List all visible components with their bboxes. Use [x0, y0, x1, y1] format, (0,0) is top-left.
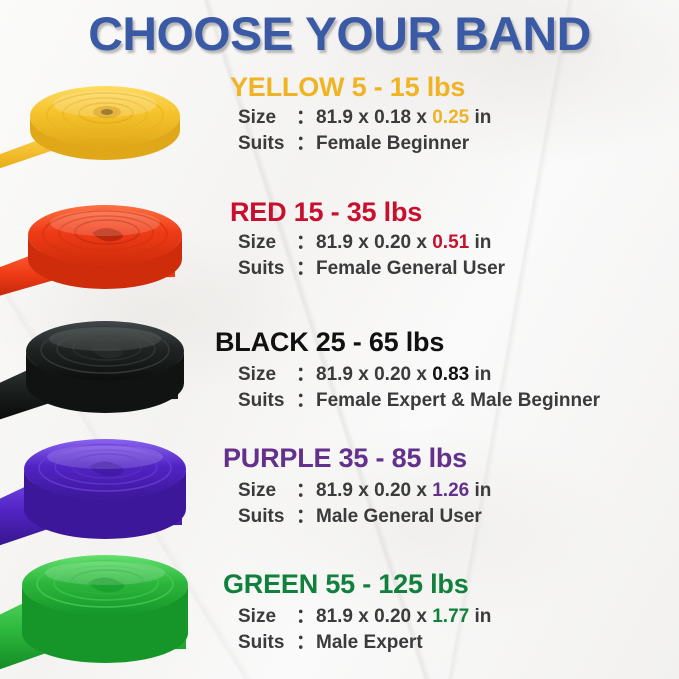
size-colon: ：	[296, 479, 316, 502]
size-prefix: 81.9 x 0.20 x	[316, 364, 432, 385]
black-coil-graphic	[0, 313, 210, 437]
size-colon: ：	[296, 605, 316, 628]
size-suffix: in	[469, 107, 491, 128]
band-row-black: BLACK 25 - 65 lbs Size：81.9 x 0.20 x 0.8…	[0, 313, 679, 437]
band-heading-yellow: YELLOW 5 - 15 lbs	[230, 72, 465, 102]
size-colon: ：	[296, 106, 316, 129]
size-label: Size	[238, 106, 296, 129]
band-size-green: Size：81.9 x 0.20 x 1.77 in	[238, 605, 491, 628]
band-text-red: RED 15 - 35 lbs Size：81.9 x 0.20 x 0.51 …	[208, 193, 679, 315]
suits-value: Female Beginner	[316, 133, 469, 154]
suits-colon: ：	[296, 505, 316, 528]
band-suits-purple: Suits：Male General User	[238, 505, 482, 528]
band-row-yellow: YELLOW 5 - 15 lbs Size：81.9 x 0.18 x 0.2…	[0, 70, 679, 195]
band-image-red	[0, 193, 210, 315]
size-label: Size	[238, 231, 296, 254]
size-label: Size	[238, 605, 296, 628]
band-row-purple: PURPLE 35 - 85 lbs Size：81.9 x 0.20 x 1.…	[0, 435, 679, 557]
band-suits-yellow: Suits：Female Beginner	[238, 132, 469, 155]
band-heading-green: GREEN 55 - 125 lbs	[223, 569, 469, 599]
suits-value: Female Expert & Male Beginner	[316, 390, 600, 411]
suits-value: Male General User	[316, 506, 482, 527]
size-thickness: 0.51	[432, 232, 469, 253]
green-coil-graphic	[0, 555, 210, 679]
band-text-black: BLACK 25 - 65 lbs Size：81.9 x 0.20 x 0.8…	[208, 313, 679, 437]
band-heading-purple: PURPLE 35 - 85 lbs	[223, 443, 467, 473]
size-thickness: 0.25	[432, 107, 469, 128]
size-prefix: 81.9 x 0.20 x	[316, 606, 432, 627]
size-prefix: 81.9 x 0.20 x	[316, 232, 432, 253]
size-label: Size	[238, 363, 296, 386]
size-colon: ：	[296, 363, 316, 386]
size-suffix: in	[469, 232, 491, 253]
band-heading-black: BLACK 25 - 65 lbs	[215, 327, 444, 357]
suits-colon: ：	[296, 631, 316, 654]
size-thickness: 1.77	[432, 606, 469, 627]
band-suits-red: Suits：Female General User	[238, 257, 505, 280]
band-size-black: Size：81.9 x 0.20 x 0.83 in	[238, 363, 491, 386]
suits-label: Suits	[238, 257, 296, 280]
suits-colon: ：	[296, 132, 316, 155]
suits-colon: ：	[296, 257, 316, 280]
band-image-black	[0, 313, 210, 437]
band-size-purple: Size：81.9 x 0.20 x 1.26 in	[238, 479, 491, 502]
size-colon: ：	[296, 231, 316, 254]
band-text-purple: PURPLE 35 - 85 lbs Size：81.9 x 0.20 x 1.…	[208, 435, 679, 557]
band-suits-black: Suits：Female Expert & Male Beginner	[238, 389, 600, 412]
band-image-green	[0, 555, 210, 679]
yellow-coil-graphic	[0, 70, 210, 195]
size-suffix: in	[469, 480, 491, 501]
size-thickness: 0.83	[432, 364, 469, 385]
suits-colon: ：	[296, 389, 316, 412]
suits-label: Suits	[238, 389, 296, 412]
band-row-red: RED 15 - 35 lbs Size：81.9 x 0.20 x 0.51 …	[0, 193, 679, 315]
red-coil-graphic	[0, 193, 210, 315]
suits-value: Male Expert	[316, 632, 423, 653]
size-suffix: in	[469, 606, 491, 627]
suits-label: Suits	[238, 631, 296, 654]
size-prefix: 81.9 x 0.18 x	[316, 107, 432, 128]
size-thickness: 1.26	[432, 480, 469, 501]
band-text-green: GREEN 55 - 125 lbs Size：81.9 x 0.20 x 1.…	[208, 555, 679, 679]
suits-label: Suits	[238, 132, 296, 155]
size-prefix: 81.9 x 0.20 x	[316, 480, 432, 501]
band-size-red: Size：81.9 x 0.20 x 0.51 in	[238, 231, 491, 254]
band-suits-green: Suits：Male Expert	[238, 631, 423, 654]
suits-label: Suits	[238, 505, 296, 528]
size-suffix: in	[469, 364, 491, 385]
band-image-purple	[0, 435, 210, 557]
band-text-yellow: YELLOW 5 - 15 lbs Size：81.9 x 0.18 x 0.2…	[208, 70, 679, 195]
band-row-green: GREEN 55 - 125 lbs Size：81.9 x 0.20 x 1.…	[0, 555, 679, 679]
suits-value: Female General User	[316, 258, 505, 279]
infographic-root: CHOOSE YOUR BAND	[0, 0, 679, 679]
purple-coil-graphic	[0, 435, 210, 557]
band-heading-red: RED 15 - 35 lbs	[230, 197, 422, 227]
page-title: CHOOSE YOUR BAND	[0, 6, 679, 62]
size-label: Size	[238, 479, 296, 502]
band-image-yellow	[0, 70, 210, 195]
band-size-yellow: Size：81.9 x 0.18 x 0.25 in	[238, 106, 491, 129]
